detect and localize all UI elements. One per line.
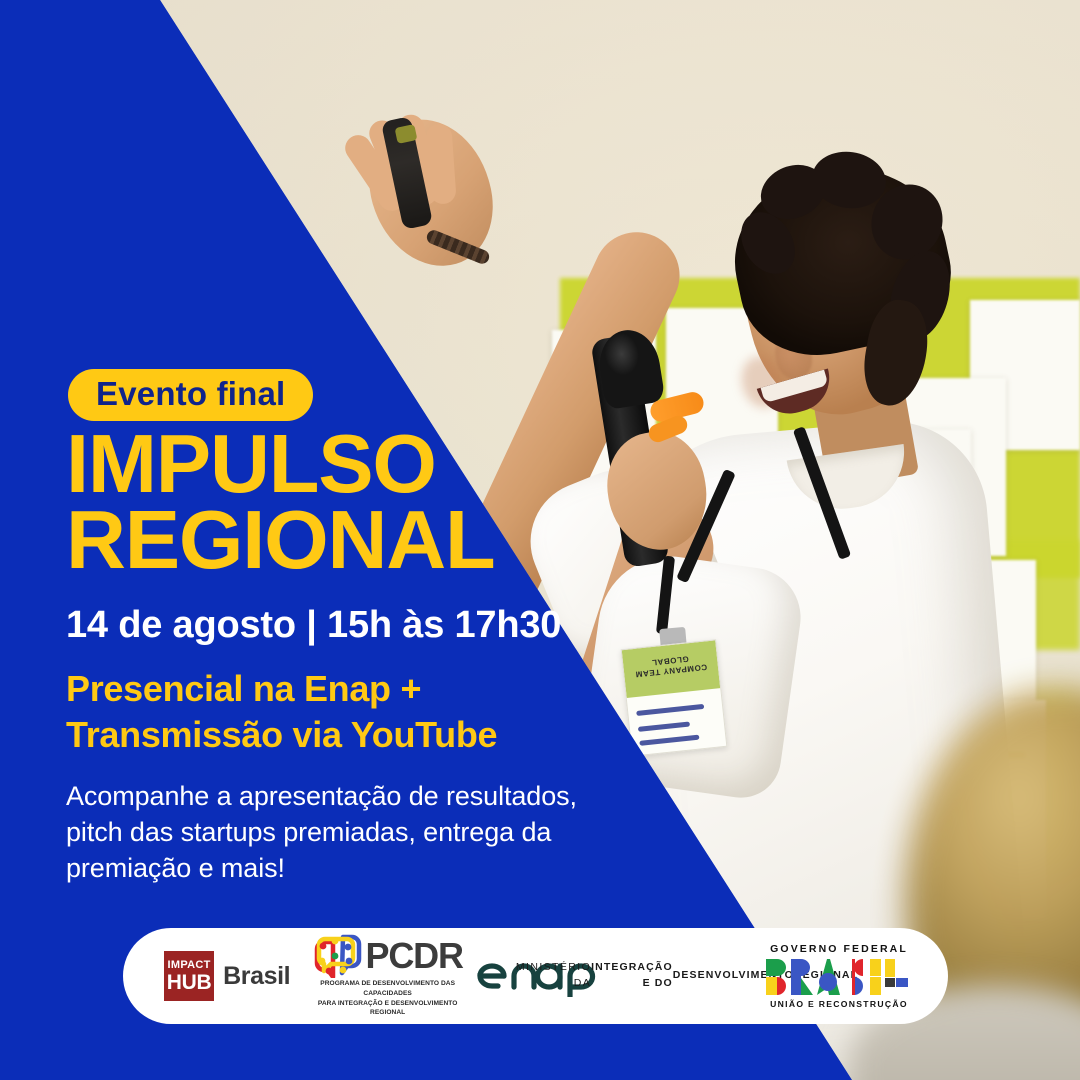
- logo-pcdr: PCDR PROGRAMA DE DESENVOLVIMENTO DAS CAP…: [301, 934, 474, 1017]
- event-description: Acompanhe a apresentação de resultados, …: [66, 779, 577, 887]
- impact-hub-brasil-text: Brasil: [223, 962, 290, 991]
- ministry-line-2: INTEGRAÇÃO E DO: [591, 960, 673, 992]
- logo-governo-federal-brasil: GOVERNO FEDERAL: [764, 943, 914, 1009]
- governo-federal-label: GOVERNO FEDERAL: [770, 943, 908, 955]
- logo-impact-hub-brasil: IMPACT HUB Brasil: [153, 951, 301, 1001]
- impact-hub-hub-text: HUB: [167, 972, 212, 993]
- event-format: Presencial na Enap + Transmissão via You…: [66, 666, 497, 757]
- page-title: IMPULSO REGIONAL: [66, 426, 494, 579]
- pcdr-wordmark: PCDR: [366, 935, 463, 977]
- poster-canvas: COMPANY TEAMGLOBAL Evento final IMPULSO …: [0, 0, 1080, 1080]
- brasil-wordmark-icon: [764, 957, 914, 997]
- impact-hub-mark: IMPACT HUB: [164, 951, 214, 1001]
- event-datetime: 14 de agosto | 15h às 17h30: [66, 604, 561, 647]
- eyebrow-badge: Evento final: [68, 369, 313, 421]
- ministry-line-1: MINISTÉRIO DA: [516, 960, 591, 992]
- poster-content: Evento final IMPULSO REGIONAL 14 de agos…: [0, 0, 1080, 1080]
- pcdr-subtitle: PROGRAMA DE DESENVOLVIMENTO DAS CAPACIDA…: [301, 979, 474, 1017]
- pcdr-speech-bubble-icon: [313, 934, 363, 978]
- impact-hub-impact-text: IMPACT: [168, 960, 211, 971]
- uniao-reconstrucao-label: UNIÃO E RECONSTRUÇÃO: [770, 999, 908, 1009]
- sponsor-logo-bar: IMPACT HUB Brasil: [123, 928, 948, 1024]
- logo-ministry-text: MINISTÉRIO DA INTEGRAÇÃO E DO DESENVOLVI…: [614, 960, 764, 992]
- pcdr-lockup: PCDR: [313, 934, 463, 978]
